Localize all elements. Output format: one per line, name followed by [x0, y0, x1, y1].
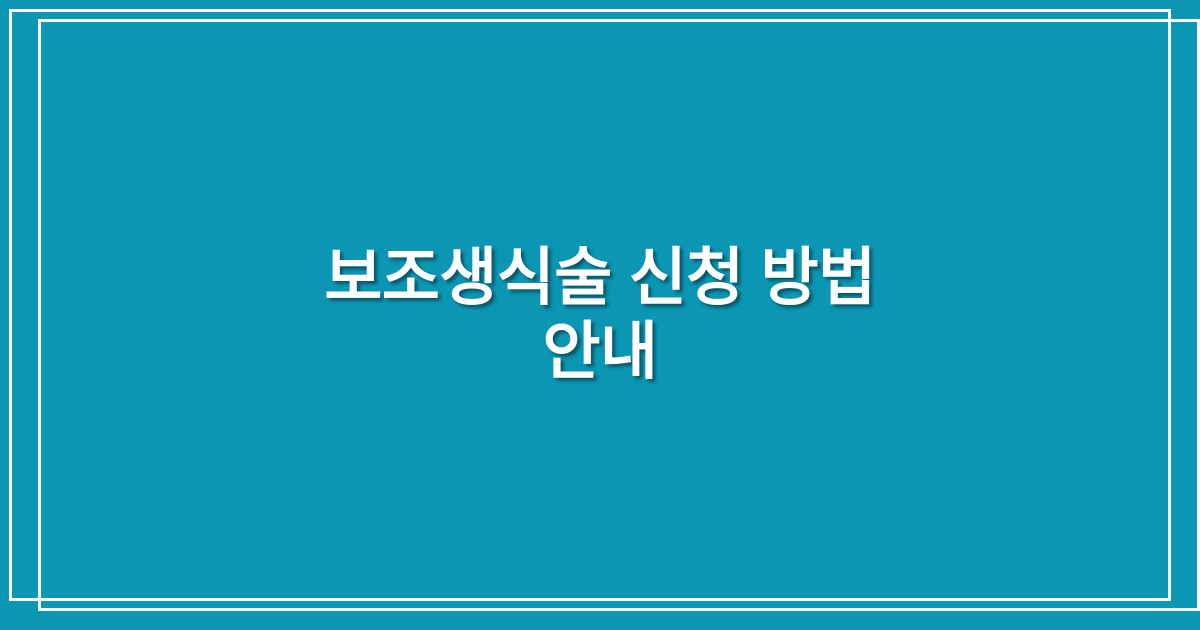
thumbnail-card: 보조생식술 신청 방법 안내	[0, 0, 1200, 630]
page-title: 보조생식술 신청 방법 안내	[280, 241, 920, 390]
title-container: 보조생식술 신청 방법 안내	[0, 0, 1200, 630]
